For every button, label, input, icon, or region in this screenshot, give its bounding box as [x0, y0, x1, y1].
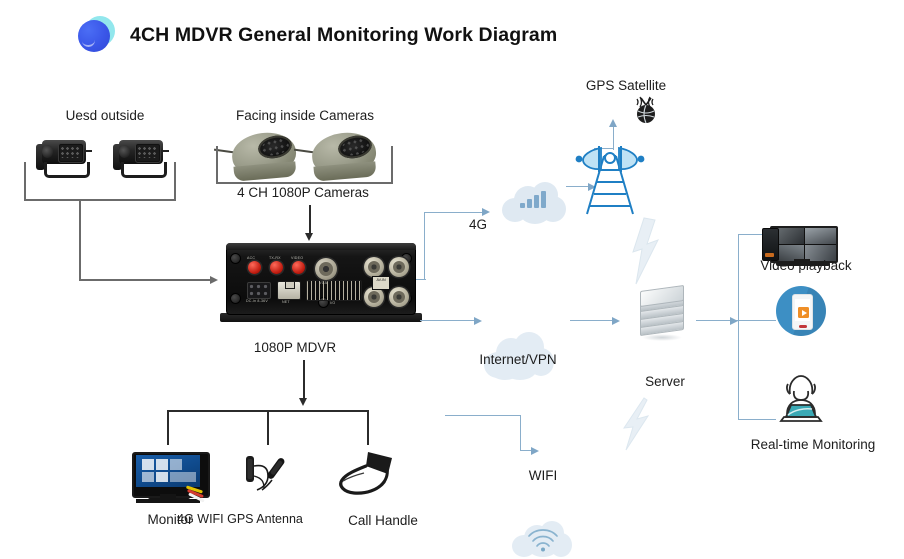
- wifi-label: WIFI: [529, 468, 558, 483]
- mdvr-out-4g: [416, 279, 426, 280]
- cell-tower-icon: [573, 136, 647, 214]
- mdvr-to-4g-vertical: [424, 212, 425, 280]
- server-stack-icon: [640, 288, 688, 340]
- mdvr-red-port-1: [248, 261, 261, 274]
- inside-cameras-label: Facing inside Cameras: [236, 108, 374, 123]
- cellular-label: 4G: [469, 217, 487, 232]
- mdvr-power-port: [247, 282, 271, 299]
- output-branch-phone: [738, 320, 776, 321]
- bullet-camera-2: [105, 138, 167, 178]
- server-label: Server: [645, 374, 685, 389]
- outside-bracket-right: [174, 162, 176, 200]
- lcd-monitor-icon: [132, 452, 210, 504]
- outside-to-mdvr-arrow: [210, 276, 218, 284]
- mobile-phone-play-icon: [776, 286, 826, 336]
- output-label-video-playback: Video playback: [760, 258, 851, 273]
- to-4g-arrow: [482, 208, 490, 216]
- mdvr-to-4g-horizontal: [424, 212, 484, 213]
- server-to-outputs-arrow: [730, 317, 738, 325]
- mdvr-av-port-3: [364, 287, 384, 307]
- mdvr-device: ACC TX-RX VIDEO DC-in 8-36V NET I/O VGA …: [226, 243, 416, 315]
- inside-bracket-bottom: [216, 182, 393, 184]
- mdvr-io-port: [306, 280, 362, 301]
- accessory-label-antenna: 4G WIFI GPS Antenna: [177, 512, 303, 526]
- to-wifi-arrow: [531, 447, 539, 455]
- mdvr-av-port-1: [364, 257, 384, 277]
- outside-bracket-left: [24, 162, 26, 200]
- internet-to-server-line: [570, 320, 614, 321]
- accessories-drop-2: [267, 410, 269, 445]
- wifi-cloud-icon: [512, 521, 574, 559]
- outside-to-mdvr-horizontal: [79, 279, 212, 281]
- mdvr-to-internet-line: [420, 320, 476, 321]
- output-label-realtime-monitoring: Real-time Monitoring: [751, 437, 876, 452]
- accessory-label-handle: Call Handle: [348, 513, 418, 528]
- internet-to-server-arrow: [612, 317, 620, 325]
- mdvr-red-port-2: [270, 261, 283, 274]
- page-title: 4CH MDVR General Monitoring Work Diagram: [130, 24, 557, 47]
- mdvr-red-port-3: [292, 261, 305, 274]
- lightning-bolt-upper-icon: [628, 218, 662, 292]
- tower-to-gps-arrow: [609, 119, 617, 127]
- mdvr-label: 1080P MDVR: [254, 340, 336, 355]
- outside-bracket-bottom: [24, 199, 176, 201]
- dome-camera-1: [228, 133, 304, 187]
- antenna-icon: [238, 450, 294, 506]
- wifi-feed-vertical: [520, 415, 521, 451]
- dome-camera-2: [308, 133, 384, 187]
- outside-cameras-label: Uesd outside: [66, 108, 145, 123]
- inside-to-mdvr-vertical: [309, 205, 311, 235]
- inside-bracket-right: [391, 146, 393, 183]
- mdvr-vga-port: [315, 258, 337, 280]
- signal-cloud-icon: [500, 182, 568, 226]
- person-laptop-icon: [770, 374, 832, 426]
- inside-to-mdvr-arrow: [305, 233, 313, 241]
- lightning-bolt-lower-icon: [620, 398, 652, 454]
- gps-label: GPS Satellite: [586, 78, 666, 93]
- mdvr-av-port-4: [389, 287, 409, 307]
- satellite-globe-icon: [627, 96, 661, 126]
- mdvr-to-accessories-arrow: [299, 398, 307, 406]
- bullet-camera-1: [28, 138, 90, 178]
- inside-bracket-left: [216, 146, 218, 183]
- outputs-bus-vertical: [738, 234, 739, 420]
- diagram-header: 4CH MDVR General Monitoring Work Diagram: [78, 16, 557, 54]
- mdvr-av-port-2: [389, 257, 409, 277]
- accessories-drop-1: [167, 410, 169, 445]
- mdvr-net-port: [277, 281, 301, 300]
- wifi-feed-horizontal: [445, 415, 521, 416]
- mdvr-to-accessories-vertical: [303, 360, 305, 400]
- diagram-canvas: 4CH MDVR General Monitoring Work Diagram…: [0, 0, 904, 558]
- accessories-drop-3: [367, 410, 369, 445]
- outside-to-mdvr-vertical: [79, 199, 81, 280]
- handset-icon: [330, 448, 402, 504]
- camera-bracket-label: 4 CH 1080P Cameras: [237, 185, 369, 200]
- internet-label: Internet/VPN: [479, 352, 556, 367]
- blue-circle-logo-icon: [78, 16, 116, 54]
- to-internet-arrow: [474, 317, 482, 325]
